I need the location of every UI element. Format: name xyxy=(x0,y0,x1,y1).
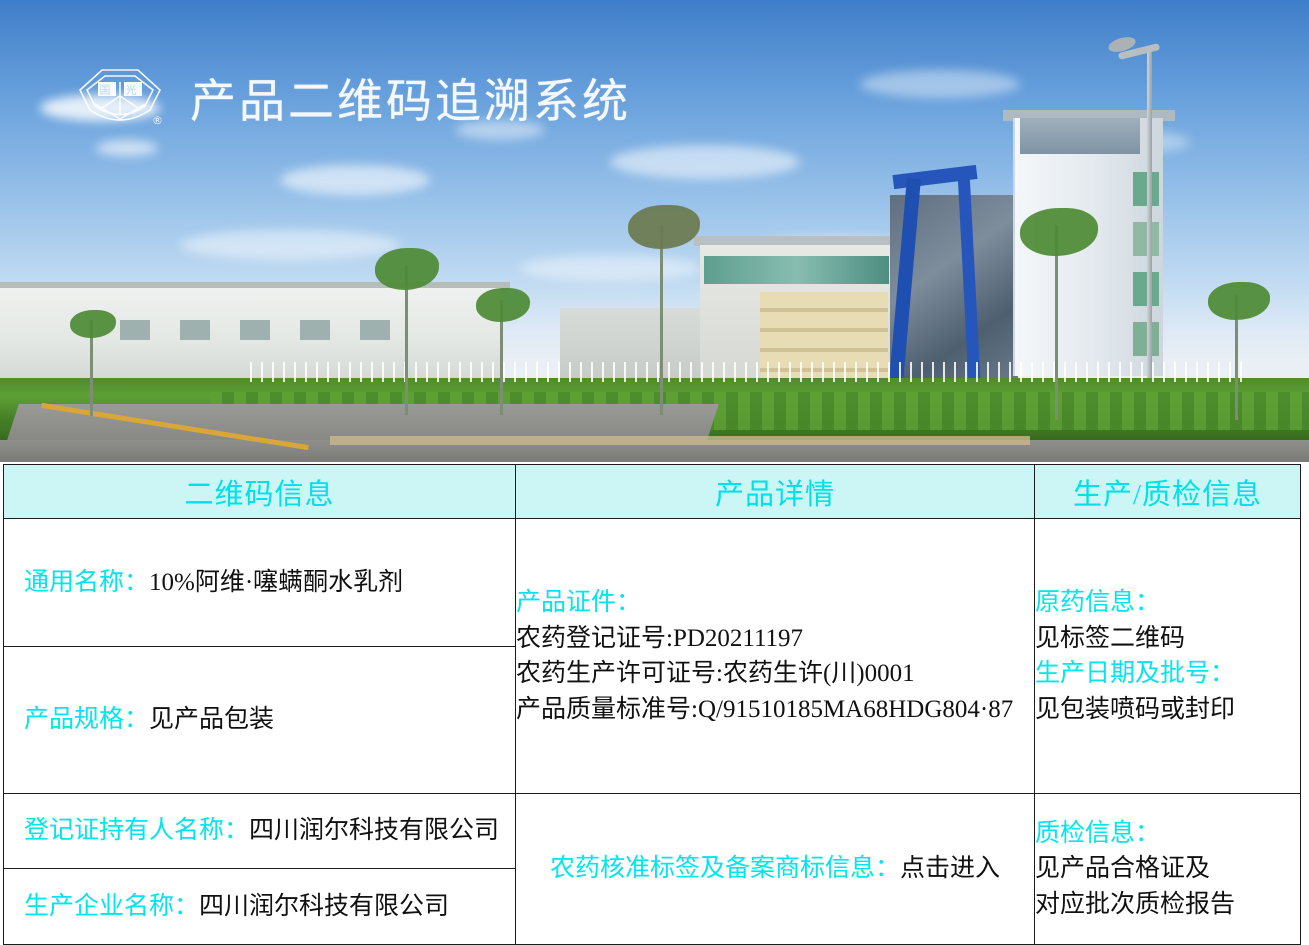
link-click-to-enter[interactable]: 点击进入 xyxy=(900,855,1000,882)
cell-product-certificates: 产品证件： 农药登记证号:PD20211197 农药生产许可证号:农药生许(川)… xyxy=(516,519,1035,794)
value-production-date-batch: 见包装喷码或封印 xyxy=(1035,692,1300,728)
value-registration-holder: 四川润尔科技有限公司 xyxy=(249,817,499,844)
tower-window xyxy=(1133,322,1159,356)
tower-window xyxy=(1133,222,1159,256)
column-header-product: 产品详情 xyxy=(516,465,1035,519)
label-qc-info: 质检信息： xyxy=(1035,816,1300,852)
curb xyxy=(330,436,1030,445)
label-raw-material-info: 原药信息： xyxy=(1035,585,1300,621)
value-manufacturer: 四川润尔科技有限公司 xyxy=(199,893,449,920)
value-raw-material-info: 见标签二维码 xyxy=(1035,621,1300,657)
page-title: 产品二维码追溯系统 xyxy=(190,65,631,131)
qc-info-line-1: 见产品合格证及 xyxy=(1035,851,1300,887)
tower-opening xyxy=(1020,118,1140,154)
cell-manufacturer: 生产企业名称：四川润尔科技有限公司 xyxy=(4,869,516,945)
window xyxy=(300,320,330,340)
label-approved-label-info: 农药核准标签及备案商标信息： xyxy=(550,855,900,882)
cell-raw-material-and-batch: 原药信息： 见标签二维码 生产日期及批号： 见包装喷码或封印 xyxy=(1035,519,1301,794)
window xyxy=(240,320,270,340)
label-manufacturer: 生产企业名称： xyxy=(24,893,199,920)
tower-window xyxy=(1133,172,1159,206)
cloud-icon xyxy=(610,145,800,179)
cell-qc-info: 质检信息： 见产品合格证及 对应批次质检报告 xyxy=(1035,794,1301,945)
production-license-line: 农药生产许可证号:农药生许(川)0001 xyxy=(516,656,1034,692)
label-production-date-batch: 生产日期及批号： xyxy=(1035,656,1300,692)
cloud-icon xyxy=(520,255,700,281)
column-header-qrcode: 二维码信息 xyxy=(4,465,516,519)
qc-info-line-2: 对应批次质检报告 xyxy=(1035,887,1300,923)
cloud-icon xyxy=(180,230,400,260)
traceability-info-table: 二维码信息 产品详情 生产/质检信息 通用名称：10%阿维·噻螨酮水乳剂 产品证… xyxy=(3,464,1301,945)
registered-trademark-icon: ® xyxy=(152,114,163,127)
table-header-row: 二维码信息 产品详情 生产/质检信息 xyxy=(4,465,1301,519)
table-row: 通用名称：10%阿维·噻螨酮水乳剂 产品证件： 农药登记证号:PD2021119… xyxy=(4,519,1301,647)
cell-product-spec: 产品规格：见产品包装 xyxy=(4,646,516,793)
brand-lockup: 国 光 ® 产品二维码追溯系统 xyxy=(72,62,631,134)
quality-standard-line: 产品质量标准号:Q/91510185MA68HDG804·87 xyxy=(516,692,1034,728)
window xyxy=(180,320,210,340)
cell-common-name: 通用名称：10%阿维·噻螨酮水乳剂 xyxy=(4,519,516,647)
tower-window xyxy=(1133,272,1159,306)
label-common-name: 通用名称： xyxy=(24,569,149,596)
table-row: 登记证持有人名称：四川润尔科技有限公司 农药核准标签及备案商标信息：点击进入 质… xyxy=(4,794,1301,869)
cloud-icon xyxy=(280,165,430,195)
glass-curtain-band xyxy=(704,256,889,284)
label-product-certificates: 产品证件： xyxy=(516,585,1034,621)
label-registration-holder: 登记证持有人名称： xyxy=(24,817,249,844)
cloud-icon xyxy=(860,70,1020,98)
guoguang-diamond-logo-icon: 国 光 ® xyxy=(72,62,168,134)
fence xyxy=(250,362,1250,382)
label-product-spec: 产品规格： xyxy=(24,706,149,733)
window xyxy=(120,320,150,340)
logo-char-guang: 光 xyxy=(126,83,137,97)
column-header-qc: 生产/质检信息 xyxy=(1035,465,1301,519)
cell-registration-holder: 登记证持有人名称：四川润尔科技有限公司 xyxy=(4,794,516,869)
value-product-spec: 见产品包装 xyxy=(149,706,274,733)
cell-approved-label-link[interactable]: 农药核准标签及备案商标信息：点击进入 xyxy=(516,794,1035,945)
registration-number-line: 农药登记证号:PD20211197 xyxy=(516,621,1034,657)
logo-char-guo: 国 xyxy=(100,84,111,97)
window xyxy=(360,320,390,340)
cloud-icon xyxy=(96,140,158,156)
value-common-name: 10%阿维·噻螨酮水乳剂 xyxy=(149,569,403,596)
banner-photo: 国 光 ® 产品二维码追溯系统 xyxy=(0,0,1309,462)
